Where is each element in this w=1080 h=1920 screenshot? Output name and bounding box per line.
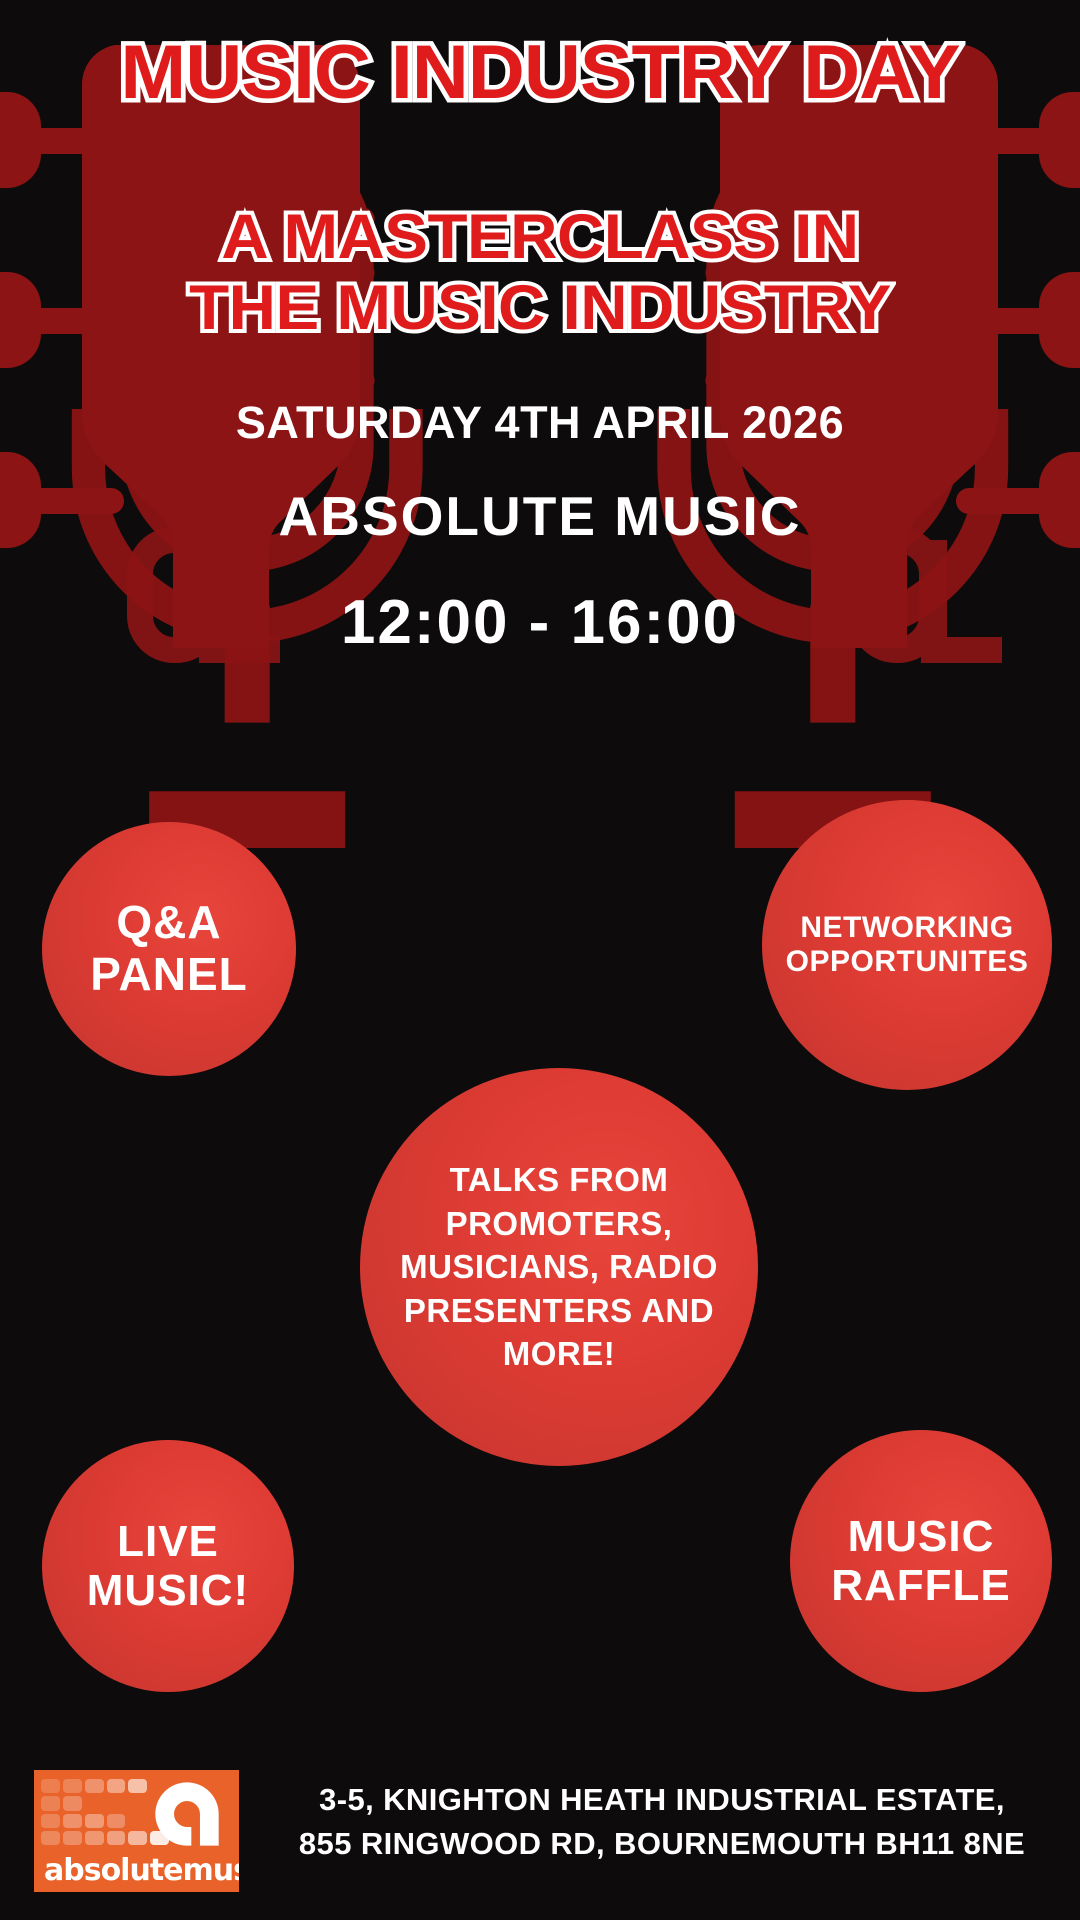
- absolutemusic-logo: absolutemusic: [34, 1770, 239, 1892]
- page-title: MUSIC INDUSTRY DAY: [0, 38, 1080, 108]
- address-line-1: 3-5, KNIGHTON HEATH INDUSTRIAL ESTATE,: [262, 1778, 1062, 1822]
- feature-bubble-live-music: LIVE MUSIC!: [42, 1440, 294, 1692]
- address-line-2: 855 RINGWOOD RD, BOURNEMOUTH BH11 8NE: [262, 1822, 1062, 1866]
- venue-address: 3-5, KNIGHTON HEATH INDUSTRIAL ESTATE, 8…: [262, 1778, 1062, 1866]
- feature-bubble-qa-panel: Q&A PANEL: [42, 822, 296, 1076]
- absolutemusic-a-icon: [151, 1778, 223, 1850]
- poster-subtitle-line1: A MASTERCLASS IN: [0, 204, 1080, 271]
- bubble-line: LIVE: [87, 1517, 249, 1566]
- bubble-line: PROMOTERS,: [400, 1202, 718, 1246]
- bubble-line: OPPORTUNITES: [786, 945, 1029, 979]
- feature-bubble-music-raffle: MUSIC RAFFLE: [790, 1430, 1052, 1692]
- bubble-line: PRESENTERS AND: [400, 1289, 718, 1333]
- bubble-line: MUSIC!: [87, 1566, 249, 1615]
- event-time: 12:00 - 16:00: [0, 592, 1080, 654]
- bubble-line: RAFFLE: [831, 1561, 1011, 1610]
- bubble-line: Q&A: [90, 897, 248, 949]
- poster-subtitle-line2: THE MUSIC INDUSTRY: [0, 275, 1080, 342]
- logo-wordmark: absolutemusic: [44, 1856, 234, 1886]
- bubble-line: TALKS FROM: [400, 1158, 718, 1202]
- bubble-line: MUSIC: [831, 1512, 1011, 1561]
- event-date: SATURDAY 4TH APRIL 2026: [0, 400, 1080, 445]
- feature-bubble-networking: NETWORKING OPPORTUNITES: [762, 800, 1052, 1090]
- poster-canvas: MUSIC INDUSTRY DAY A MASTERCLASS IN THE …: [0, 0, 1080, 1920]
- bubble-line: PANEL: [90, 949, 248, 1001]
- bubble-line: MUSICIANS, RADIO: [400, 1245, 718, 1289]
- poster-footer: absolutemusic 3-5, KNIGHTON HEATH INDUST…: [0, 1754, 1080, 1904]
- bubble-line: MORE!: [400, 1332, 718, 1376]
- bubble-line: NETWORKING: [786, 911, 1029, 945]
- event-details: SATURDAY 4TH APRIL 2026 ABSOLUTE MUSIC 1…: [0, 400, 1080, 654]
- event-venue: ABSOLUTE MUSIC: [0, 489, 1080, 544]
- logo-grid-pattern: [41, 1779, 169, 1845]
- feature-bubble-talks: TALKS FROM PROMOTERS, MUSICIANS, RADIO P…: [360, 1068, 758, 1466]
- poster-header: MUSIC INDUSTRY DAY A MASTERCLASS IN THE …: [0, 38, 1080, 341]
